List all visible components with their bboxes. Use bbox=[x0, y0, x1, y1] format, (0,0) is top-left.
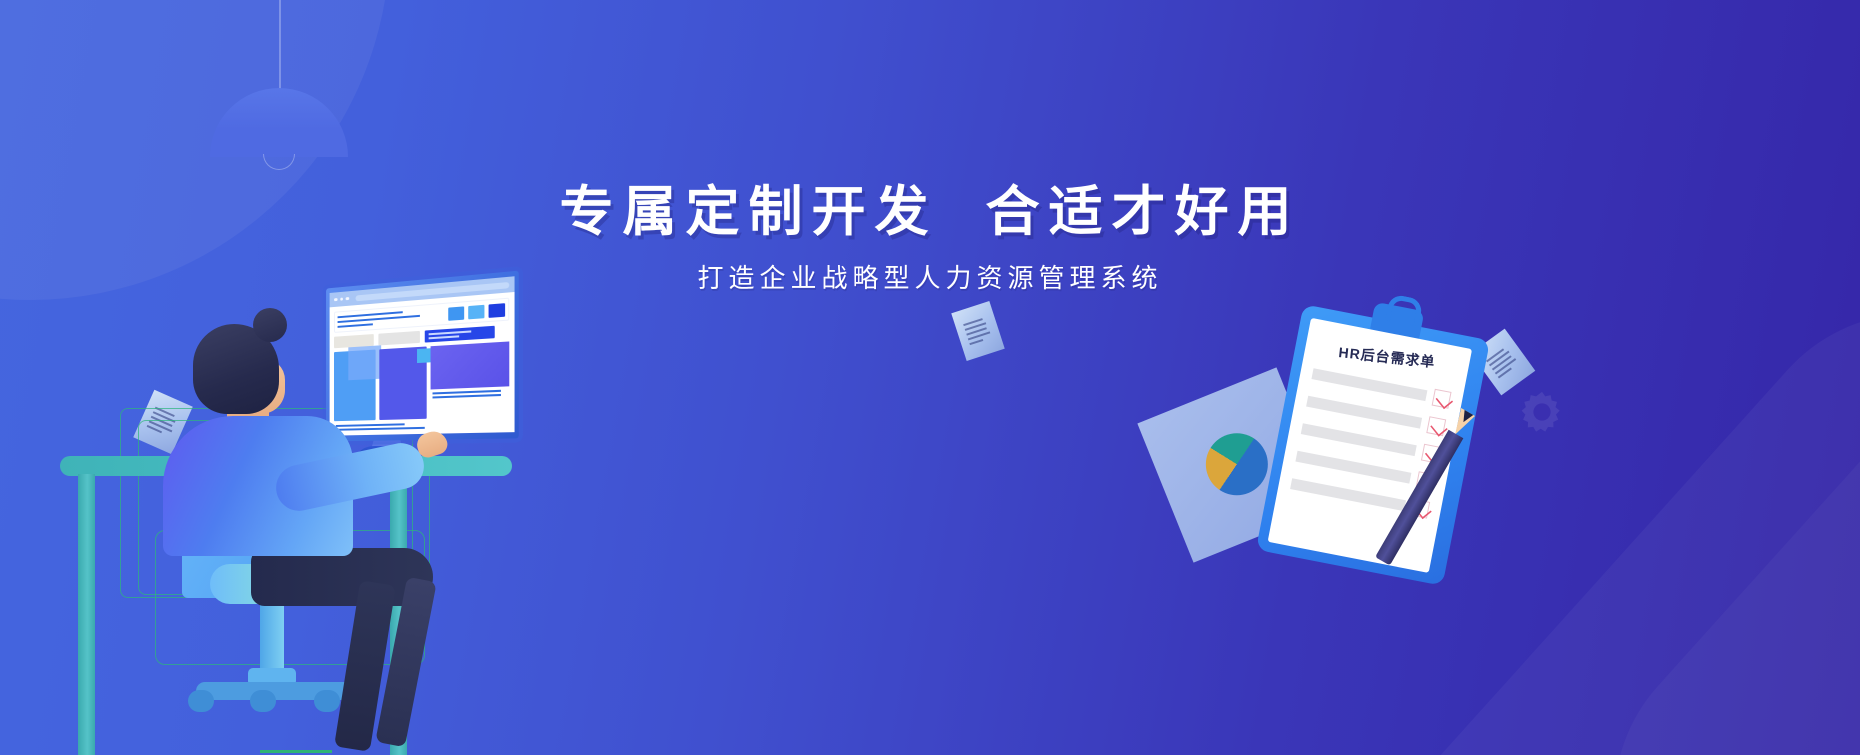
hero-banner: 专属定制开发 合适才好用 打造企业战略型人力资源管理系统 bbox=[0, 0, 1860, 755]
lamp-shade bbox=[210, 88, 348, 157]
clipboard-scene-illustration: HR后台需求单 bbox=[1160, 330, 1580, 620]
doc-sheet bbox=[951, 301, 1004, 361]
person-hair bbox=[193, 324, 279, 414]
header-swatch-1 bbox=[448, 306, 464, 320]
clipboard-line bbox=[1290, 478, 1406, 511]
checkmark-icon bbox=[1426, 416, 1446, 436]
header-swatch-3 bbox=[489, 303, 506, 318]
page-subtitle: 打造企业战略型人力资源管理系统 bbox=[0, 258, 1860, 295]
person-legs bbox=[251, 548, 437, 748]
pendant-lamp-icon bbox=[210, 0, 350, 163]
lamp-cord bbox=[279, 0, 281, 90]
tile-violet bbox=[431, 341, 510, 418]
floating-doc-mid-icon bbox=[951, 301, 1004, 361]
window-dot-maximize-icon bbox=[346, 297, 349, 301]
tile-violet-lines bbox=[431, 387, 510, 419]
tile-violet-image bbox=[431, 341, 510, 389]
clipboard: HR后台需求单 bbox=[1256, 304, 1490, 586]
header-swatch-2 bbox=[468, 304, 484, 319]
desk-scene-illustration bbox=[60, 300, 620, 755]
person-at-desk bbox=[155, 324, 415, 744]
desk-leg-left bbox=[78, 474, 95, 755]
checkmark-icon bbox=[1432, 389, 1452, 409]
pie-chart-icon bbox=[1206, 433, 1268, 495]
chip-highlight bbox=[425, 326, 495, 343]
window-dot-close-icon bbox=[334, 298, 337, 302]
window-dot-minimize-icon bbox=[340, 297, 343, 301]
